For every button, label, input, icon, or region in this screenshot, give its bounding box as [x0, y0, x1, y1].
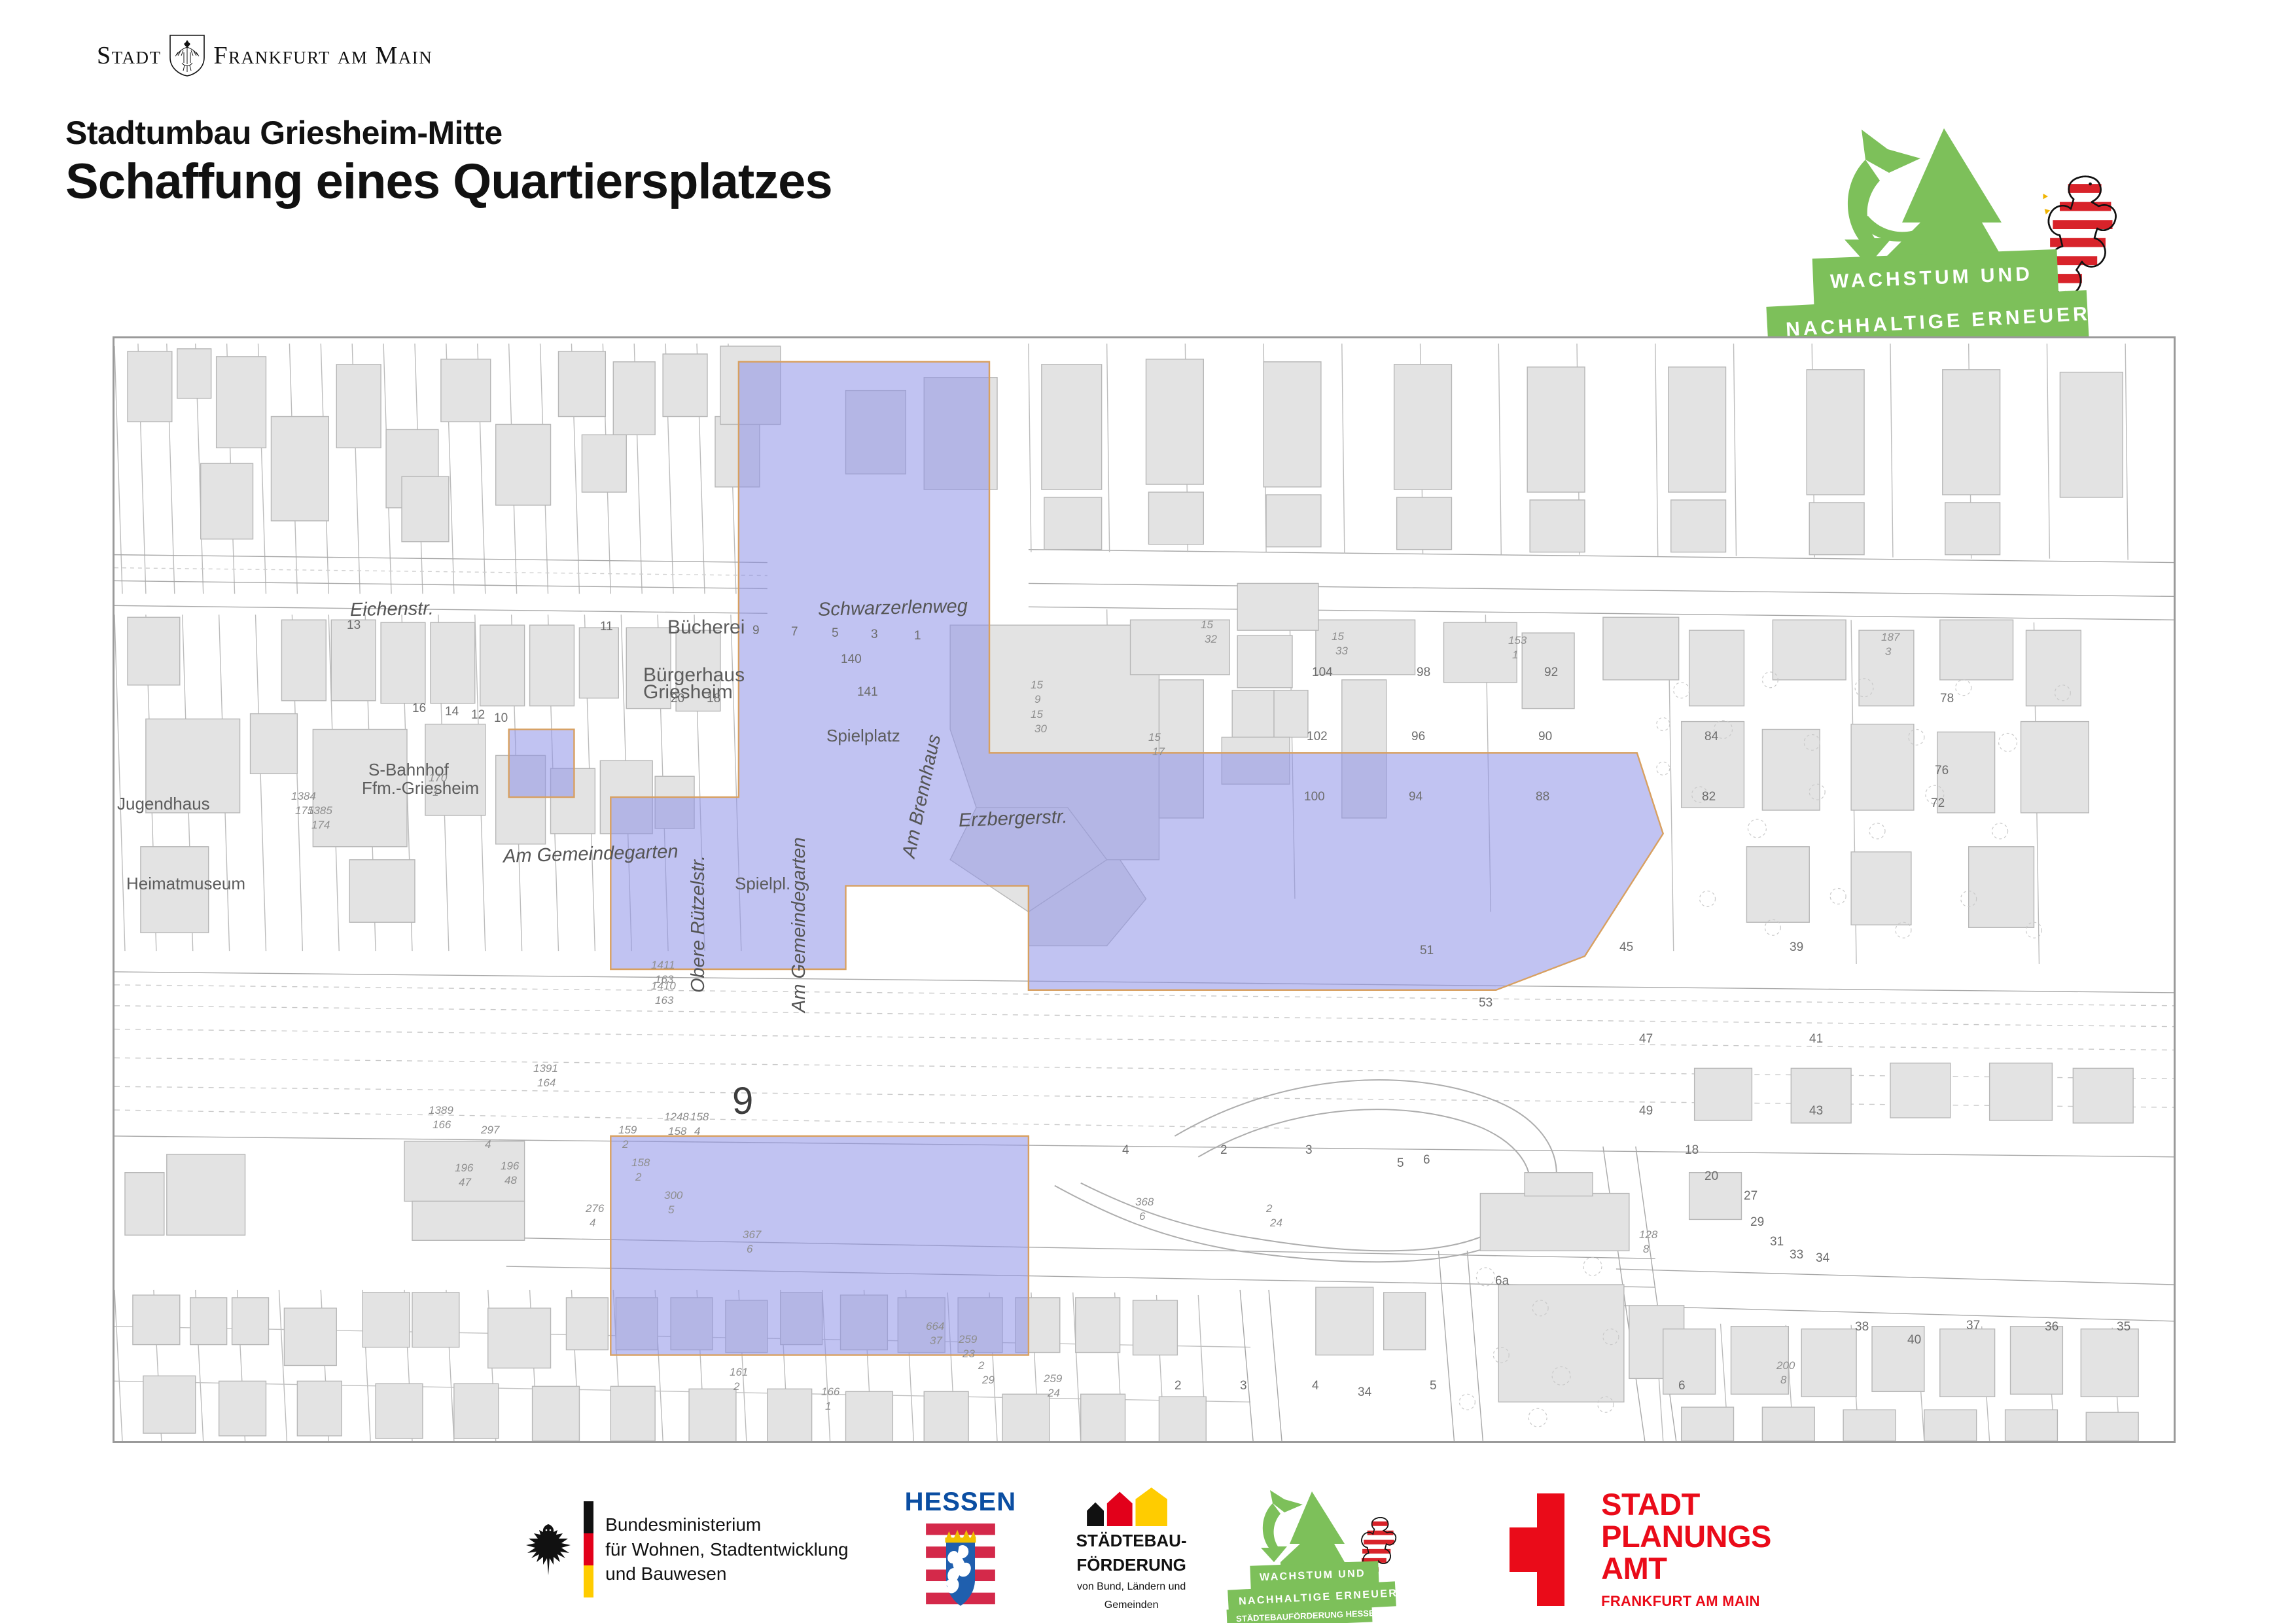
bmwsb-text-block: Bundesministerium für Wohnen, Stadtentwi…	[605, 1512, 848, 1586]
funding-logo-bar: Bundesministerium für Wohnen, Stadtentwi…	[0, 1476, 2296, 1623]
logo-staedtebaufoerderung: STÄDTEBAU- FÖRDERUNG von Bund, Ländern u…	[1072, 1488, 1190, 1612]
spa-line-2: PLANUNGS	[1601, 1521, 1771, 1553]
logo-stadtplanungsamt: STADT PLANUNGS AMT FRANKFURT AM MAIN	[1499, 1488, 1771, 1612]
frankfurt-eagle-shield-icon	[169, 34, 205, 77]
staedtebau-sub-1: von Bund, Ländern und	[1077, 1580, 1186, 1594]
bmwsb-line-2: für Wohnen, Stadtentwicklung	[605, 1537, 848, 1562]
logo-wachstum-erneuerung-small: WACHSTUM UND NACHHALTIGE ERNEUERUNG STÄD…	[1246, 1488, 1443, 1612]
spa-line-1: STADT	[1601, 1489, 1771, 1521]
bmwsb-line-3: und Bauwesen	[605, 1561, 848, 1586]
bundesadler-icon	[525, 1522, 572, 1578]
staedtebau-line-2: FÖRDERUNG	[1076, 1556, 1186, 1575]
title-block: Stadtumbau Griesheim-Mitte Schaffung ein…	[65, 115, 832, 209]
logo-hessen: HESSEN	[905, 1488, 1017, 1612]
staedtebau-line-1: STÄDTEBAU-	[1076, 1531, 1187, 1550]
highlight-area-parcel-158-4	[509, 730, 574, 798]
spa-line-3: AMT	[1601, 1553, 1771, 1585]
page-subtitle: Stadtumbau Griesheim-Mitte	[65, 115, 832, 151]
city-wordmark-left: Stadt	[97, 41, 161, 70]
city-wordmark-logo: Stadt Frankfurt am Main	[97, 34, 433, 77]
poster-page: Stadt Frankfurt am Main Stadtumbau Gries…	[0, 0, 2296, 1623]
german-flag-bar-icon	[584, 1501, 593, 1598]
hessen-wordmark: HESSEN	[905, 1488, 1017, 1517]
city-wordmark-right: Frankfurt am Main	[213, 41, 433, 70]
bmwsb-line-1: Bundesministerium	[605, 1512, 848, 1537]
spa-subline: FRANKFURT AM MAIN	[1601, 1593, 1771, 1610]
stadtplanungsamt-mark-icon	[1499, 1493, 1584, 1606]
three-house-roofs-icon	[1072, 1488, 1190, 1527]
logo-bmwsb: Bundesministerium für Wohnen, Stadtentwi…	[525, 1488, 848, 1612]
cadastral-map[interactable]: Eichenstr. Schwarzerlenweg Erzbergerstr.…	[113, 336, 2176, 1443]
hessen-coat-of-arms-icon	[925, 1521, 996, 1612]
staedtebau-sub-2: Gemeinden	[1104, 1599, 1159, 1612]
map-vector-layer	[115, 338, 2174, 1441]
spa-text-block: STADT PLANUNGS AMT FRANKFURT AM MAIN	[1601, 1489, 1771, 1610]
highlight-area-south	[610, 1136, 1029, 1355]
page-title: Schaffung eines Quartiersplatzes	[65, 154, 832, 209]
